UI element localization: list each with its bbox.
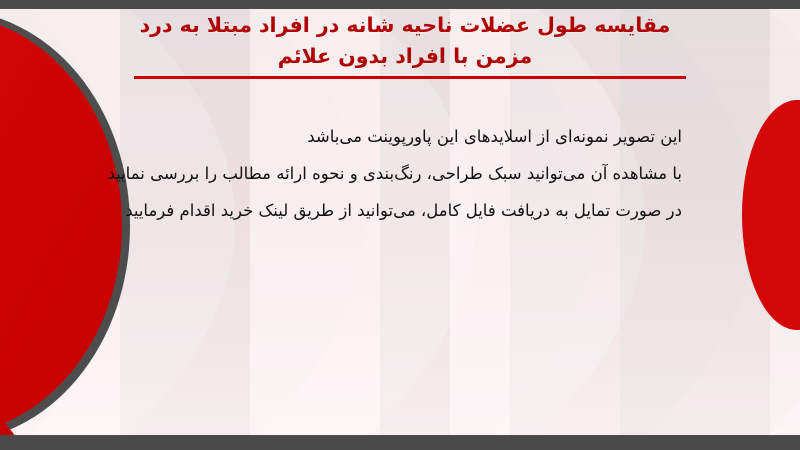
slide-title: مقایسه طول عضلات ناحیه شانه در افراد مبت… [110, 10, 700, 72]
title-underline-rule [134, 76, 686, 79]
presentation-slide: مقایسه طول عضلات ناحیه شانه در افراد مبت… [0, 0, 800, 450]
body-line-2: با مشاهده آن می‌توانید سبک طراحی، رنگ‌بن… [122, 155, 682, 192]
top-frame-bar [0, 0, 800, 9]
body-line-1: این تصویر نمونه‌ای از اسلایدهای این پاور… [122, 118, 682, 155]
bottom-frame-bar [0, 435, 800, 450]
body-line-3: در صورت تمایل به دریافت فایل کامل، می‌تو… [122, 192, 682, 229]
slide-title-line-2: مزمن با افراد بدون علائم [110, 41, 700, 72]
slide-body-text: این تصویر نمونه‌ای از اسلایدهای این پاور… [122, 118, 682, 229]
slide-title-line-1: مقایسه طول عضلات ناحیه شانه در افراد مبت… [110, 10, 700, 41]
